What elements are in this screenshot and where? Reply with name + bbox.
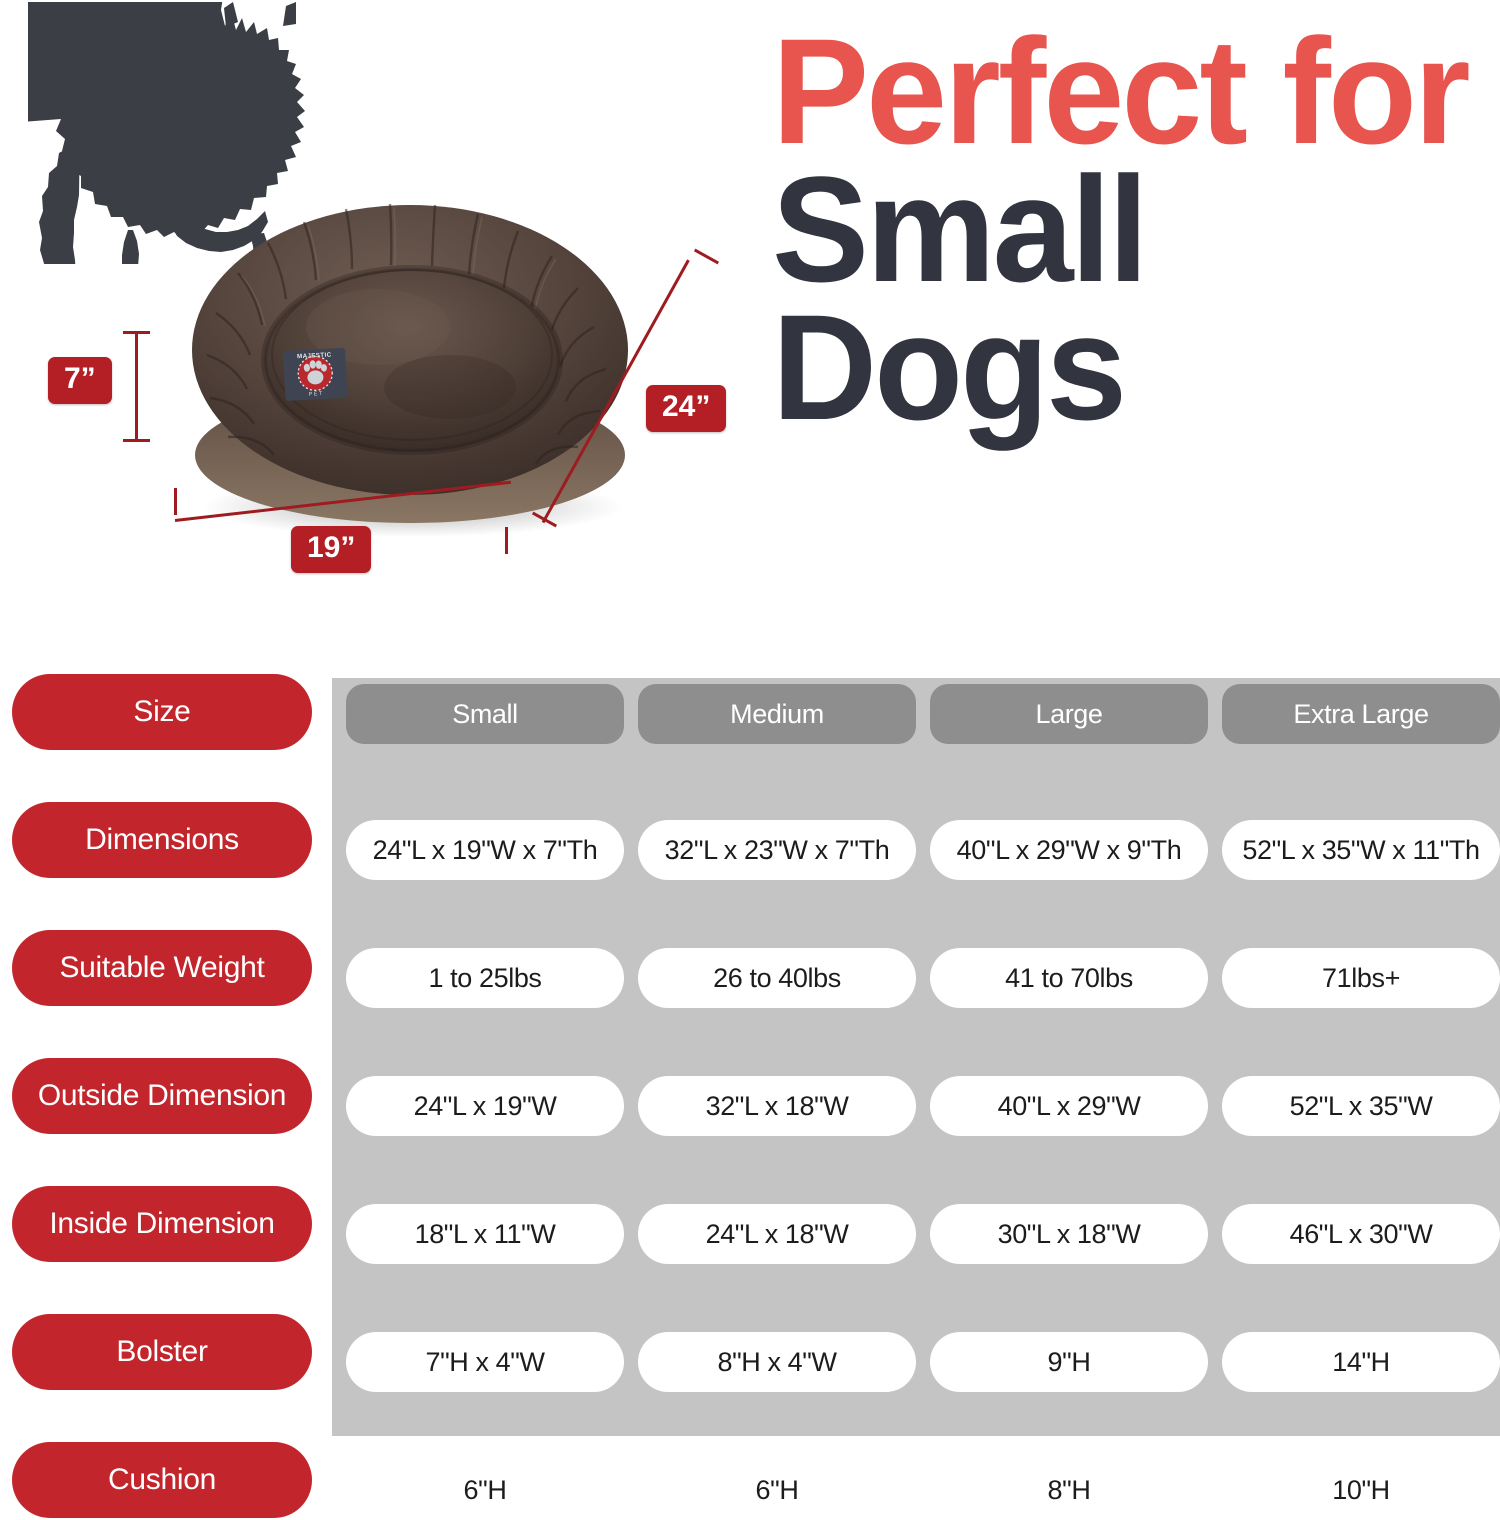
width-measure-cap-left — [174, 488, 177, 515]
callout-length: 24” — [646, 385, 726, 432]
table-cell: 40"L x 29"W — [930, 1076, 1208, 1136]
table-cell: 30"L x 18"W — [930, 1204, 1208, 1264]
row-label-outside-dimension: Outside Dimension — [12, 1058, 312, 1134]
height-measure-line — [135, 332, 138, 442]
width-measure-cap-right — [505, 527, 508, 554]
headline: Perfect for Small Dogs — [772, 22, 1492, 436]
row-label-dimensions: Dimensions — [12, 802, 312, 878]
table-cell: 52"L x 35"W — [1222, 1076, 1500, 1136]
table-cell: 7"H x 4"W — [346, 1332, 624, 1392]
column-header-small: Small — [346, 684, 624, 744]
table-cell: 8"H — [930, 1460, 1208, 1520]
table-cell: 71lbs+ — [1222, 948, 1500, 1008]
height-measure-cap-top — [123, 331, 150, 334]
svg-text:PET: PET — [309, 391, 325, 398]
callout-height: 7” — [48, 357, 112, 404]
height-measure-cap-bottom — [123, 439, 150, 442]
column-header-large: Large — [930, 684, 1208, 744]
spec-table: SmallMediumLargeExtra Large24"L x 19"W x… — [0, 668, 1500, 1444]
row-label-size: Size — [12, 674, 312, 750]
table-cell: 8"H x 4"W — [638, 1332, 916, 1392]
column-header-medium: Medium — [638, 684, 916, 744]
table-cell: 6"H — [346, 1460, 624, 1520]
table-cell: 26 to 40lbs — [638, 948, 916, 1008]
table-cell: 32"L x 18"W — [638, 1076, 916, 1136]
callout-width-label: 19” — [307, 531, 355, 565]
row-label-inside-dimension: Inside Dimension — [12, 1186, 312, 1262]
spec-table-label-column: SizeDimensionsSuitable WeightOutside Dim… — [0, 668, 332, 1444]
table-cell: 18"L x 11"W — [346, 1204, 624, 1264]
table-cell: 9"H — [930, 1332, 1208, 1392]
table-cell: 24"L x 18"W — [638, 1204, 916, 1264]
spec-table-panel: SmallMediumLargeExtra Large24"L x 19"W x… — [332, 678, 1500, 1436]
headline-line-3: Dogs — [772, 298, 1470, 436]
row-label-suitable-weight: Suitable Weight — [12, 930, 312, 1006]
table-cell: 24"L x 19"W — [346, 1076, 624, 1136]
table-cell: 6"H — [638, 1460, 916, 1520]
table-cell: 41 to 70lbs — [930, 948, 1208, 1008]
table-cell: 14"H — [1222, 1332, 1500, 1392]
table-cell: 32"L x 23"W x 7"Th — [638, 820, 916, 880]
dog-bed-photo: MAJESTIC PET — [150, 155, 670, 545]
headline-line-2: Small — [772, 160, 1470, 298]
table-cell: 40"L x 29"W x 9"Th — [930, 820, 1208, 880]
column-header-extra-large: Extra Large — [1222, 684, 1500, 744]
row-label-bolster: Bolster — [12, 1314, 312, 1390]
table-cell: 1 to 25lbs — [346, 948, 624, 1008]
length-measure-cap-top — [694, 249, 719, 265]
callout-height-label: 7” — [64, 362, 96, 396]
callout-width: 19” — [291, 526, 371, 573]
hero-section: MAJESTIC PET 7” 19” 24” Perfect for Smal… — [0, 0, 1500, 660]
headline-line-1: Perfect for — [772, 22, 1470, 160]
row-label-cushion: Cushion — [12, 1442, 312, 1518]
table-cell: 46"L x 30"W — [1222, 1204, 1500, 1264]
table-cell: 10"H — [1222, 1460, 1500, 1520]
table-cell: 52"L x 35"W x 11"Th — [1222, 820, 1500, 880]
table-cell: 24"L x 19"W x 7"Th — [346, 820, 624, 880]
callout-length-label: 24” — [662, 390, 710, 424]
